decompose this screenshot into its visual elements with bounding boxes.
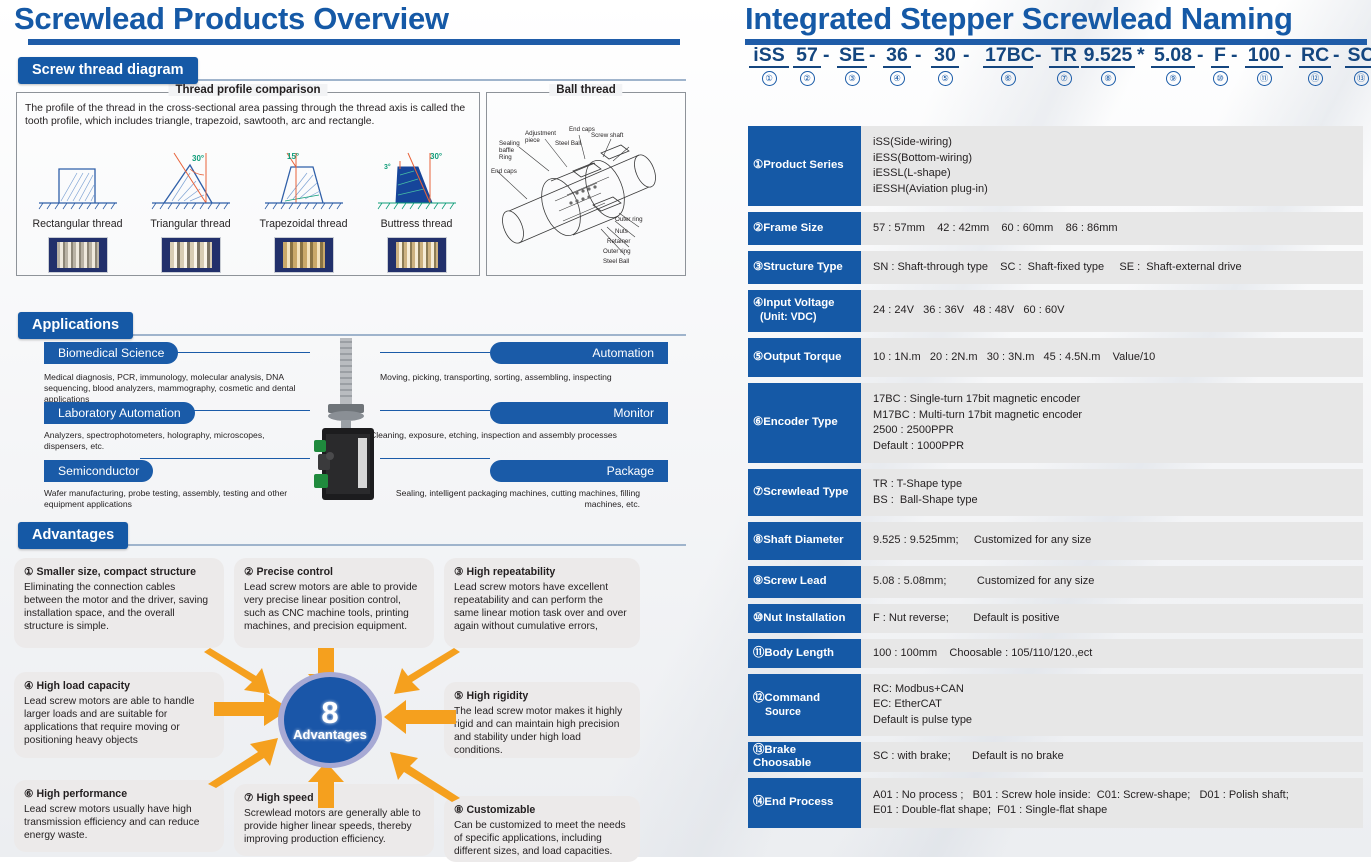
- advantage-card-3: ③ High repeatability Lead screw motors h…: [444, 558, 640, 648]
- table-row: ⑧Shaft Diameter 9.525 : 9.525mm; Customi…: [748, 522, 1363, 560]
- trapezoidal-thread-icon: 15°: [247, 139, 360, 217]
- table-row-key: ⑤Output Torque: [748, 338, 861, 377]
- thread-photo-buttress: [387, 237, 447, 273]
- table-row-key: ③Structure Type: [748, 251, 861, 284]
- code-segment-11: 100⑪: [1245, 44, 1283, 86]
- thread-diagram-area: Thread profile comparison The profile of…: [16, 92, 684, 274]
- ball-label: piece: [525, 137, 540, 144]
- code-segment-9: 5.08⑨: [1151, 44, 1195, 86]
- section-header-applications: Applications: [0, 312, 700, 338]
- ball-label: Sealing: [499, 140, 520, 147]
- code-separator: *: [1137, 44, 1145, 66]
- arrow-icon-from-card5: [384, 700, 456, 734]
- ball-label: Outer ring: [615, 216, 643, 223]
- arrow-icon-from-card1: [200, 648, 290, 698]
- thread-profile-label: Buttress thread: [360, 218, 473, 230]
- code-segment-10: F⑩: [1211, 44, 1229, 86]
- badge-word: Advantages: [293, 727, 367, 742]
- advantage-title: ④ High load capacity: [24, 680, 214, 692]
- naming-code-line: iSS① 57② - SE③ - 36④ - 30⑤ - 17BC⑥ - TR⑦…: [749, 44, 1369, 88]
- advantage-title: ⑤ High rigidity: [454, 690, 630, 702]
- thread-profile-item: 30° Triangular thread: [134, 139, 247, 273]
- code-separator: -: [823, 44, 830, 66]
- code-segment-1: iSS①: [749, 44, 789, 86]
- ball-label: Steel Ball: [603, 258, 629, 265]
- advantage-card-8: ⑧ Customizable Can be customized to meet…: [444, 796, 640, 862]
- advantage-card-4: ④ High load capacity Lead screw motors a…: [14, 672, 224, 758]
- advantage-desc: Lead screw motors are able to provide ve…: [244, 581, 424, 633]
- table-row-value: iSS(Side-wiring) iESS(Bottom-wiring) iES…: [861, 126, 1363, 206]
- code-separator: -: [1197, 44, 1204, 66]
- thread-profile-label: Triangular thread: [134, 218, 247, 230]
- applications-area: Biomedical Science Medical diagnosis, PC…: [0, 330, 700, 510]
- app-connector: [380, 458, 490, 459]
- code-separator: -: [1035, 44, 1042, 66]
- table-row-key: ⑧Shaft Diameter: [748, 522, 861, 560]
- advantage-title: ⑥ High performance: [24, 788, 214, 800]
- thread-profile-label: Rectangular thread: [21, 218, 134, 230]
- application-pill-laboratory[interactable]: Laboratory Automation: [44, 402, 195, 424]
- table-row-key: ⑭End Process: [748, 778, 861, 828]
- angle-label: 15°: [287, 152, 299, 161]
- table-row-key: ⑩Nut Installation: [748, 604, 861, 633]
- application-pill-package[interactable]: Package: [490, 460, 668, 482]
- table-row: ⑥Encoder Type 17BC : Single-turn 17bit m…: [748, 383, 1363, 463]
- table-row: ④Input Voltage (Unit: VDC) 24 : 24V 36 :…: [748, 290, 1363, 332]
- code-separator: -: [1231, 44, 1238, 66]
- application-desc-semiconductor: Wafer manufacturing, probe testing, asse…: [44, 488, 306, 510]
- ball-label: Ring: [499, 154, 512, 161]
- table-row-key: ⑪Body Length: [748, 639, 861, 668]
- application-desc-package: Sealing, intelligent packaging machines,…: [380, 488, 640, 510]
- thread-profile-item: Rectangular thread: [21, 139, 134, 273]
- table-row-value: 24 : 24V 36 : 36V 48 : 48V 60 : 60V: [861, 290, 1363, 332]
- table-row-value: A01 : No process ; B01 : Screw hole insi…: [861, 778, 1363, 828]
- thread-photo-triangular: [161, 237, 221, 273]
- arrow-icon-from-card8: [376, 750, 462, 802]
- thread-profile-box: Thread profile comparison The profile of…: [16, 92, 480, 276]
- code-segment-12: RC⑫: [1299, 44, 1331, 86]
- advantage-title: ① Smaller size, compact structure: [24, 566, 214, 578]
- code-segment-5: 30⑤: [931, 44, 959, 86]
- page-title-left: Screwlead Products Overview: [0, 0, 700, 36]
- stepper-motor-product-image: [300, 334, 396, 506]
- thread-profile-label: Trapezoidal thread: [247, 218, 360, 230]
- ball-screw-assembly-illustration: Sealing baffle Ring Adjustment piece End…: [489, 109, 683, 271]
- advantage-desc: Lead screw motors are able to handle lar…: [24, 695, 214, 747]
- table-row-value: 100 : 100mm Choosable : 105/110/120.,ect: [861, 639, 1363, 668]
- table-row: ⑫Command Source RC: Modbus+CAN EC: Ether…: [748, 674, 1363, 736]
- ball-thread-legend: Ball thread: [549, 84, 622, 96]
- badge-core: 8 Advantages: [284, 677, 376, 763]
- app-connector: [140, 458, 310, 459]
- section-badge-applications: Applications: [18, 312, 133, 339]
- title-underline-left: [28, 39, 680, 45]
- ball-label: Screw shaft: [591, 132, 624, 139]
- application-pill-automation[interactable]: Automation: [490, 342, 668, 364]
- section-header-thread: Screw thread diagram: [0, 57, 700, 83]
- table-row: ⑤Output Torque 10 : 1N.m 20 : 2N.m 30 : …: [748, 338, 1363, 377]
- section-badge-thread: Screw thread diagram: [18, 57, 198, 84]
- advantage-card-2: ② Precise control Lead screw motors are …: [234, 558, 434, 648]
- arrow-icon-from-card3: [372, 648, 464, 698]
- table-row: ⑩Nut Installation F : Nut reverse; Defau…: [748, 604, 1363, 633]
- code-segment-13: SC⑬: [1345, 44, 1371, 86]
- table-row-value: 5.08 : 5.08mm; Customized for any size: [861, 566, 1363, 598]
- arrow-icon-from-card7: [306, 762, 346, 808]
- table-row: ⑦Screwlead Type TR : T-Shape type BS : B…: [748, 469, 1363, 516]
- table-row-value: 9.525 : 9.525mm; Customized for any size: [861, 522, 1363, 560]
- table-row: ③Structure Type SN : Shaft-through type …: [748, 251, 1363, 284]
- badge-number: 8: [321, 698, 338, 727]
- code-segment-6: 17BC⑥: [983, 44, 1033, 86]
- table-row-key: ⑦Screwlead Type: [748, 469, 861, 516]
- table-row-value: SN : Shaft-through type SC : Shaft-fixed…: [861, 251, 1363, 284]
- table-row-key: ⑬Brake Choosable: [748, 742, 861, 772]
- ball-label: baffle: [499, 147, 515, 154]
- application-pill-monitor[interactable]: Monitor: [490, 402, 668, 424]
- product-overview-page: Screwlead Products Overview Screw thread…: [0, 0, 1371, 857]
- table-row-value: 17BC : Single-turn 17bit magnetic encode…: [861, 383, 1363, 463]
- table-row: ①Product Series iSS(Side-wiring) iESS(Bo…: [748, 126, 1363, 206]
- table-row: ⑨Screw Lead 5.08 : 5.08mm; Customized fo…: [748, 566, 1363, 598]
- left-panel: Screwlead Products Overview Screw thread…: [0, 0, 700, 857]
- ball-label: Nuts: [615, 228, 628, 235]
- table-row-key: ①Product Series: [748, 126, 861, 206]
- table-row-value: F : Nut reverse; Default is positive: [861, 604, 1363, 633]
- thread-photo-trapezoidal: [274, 237, 334, 273]
- angle-label: 30°: [430, 152, 442, 161]
- thread-profile-item: 15° Trapezoidal thread: [247, 139, 360, 273]
- table-row-value: RC: Modbus+CAN EC: EtherCAT Default is p…: [861, 674, 1363, 736]
- thread-photo-rectangular: [48, 237, 108, 273]
- application-desc-laboratory: Analyzers, spectrophotometers, holograph…: [44, 430, 306, 452]
- advantage-title: ⑧ Customizable: [454, 804, 630, 816]
- advantage-desc: The lead screw motor makes it highly rig…: [454, 705, 630, 757]
- table-row-key: ④Input Voltage (Unit: VDC): [748, 290, 861, 332]
- advantage-desc: Screwlead motors are generally able to p…: [244, 807, 424, 846]
- table-row-value: SC : with brake; Default is no brake: [861, 742, 1363, 772]
- table-row: ⑬Brake Choosable SC : with brake; Defaul…: [748, 742, 1363, 772]
- buttress-thread-icon: 30° 3°: [360, 139, 473, 217]
- app-connector: [380, 410, 490, 411]
- angle-label: 30°: [192, 154, 204, 163]
- naming-spec-table: ①Product Series iSS(Side-wiring) iESS(Bo…: [748, 126, 1363, 834]
- ball-label: Adjustment: [525, 130, 556, 137]
- code-segment-3: SE③: [837, 44, 867, 86]
- table-row-key: ⑨Screw Lead: [748, 566, 861, 598]
- table-row-value: 10 : 1N.m 20 : 2N.m 30 : 3N.m 45 : 4.5N.…: [861, 338, 1363, 377]
- app-connector: [380, 352, 490, 353]
- application-desc-biomedical: Medical diagnosis, PCR, immunology, mole…: [44, 372, 306, 405]
- advantage-title: ③ High repeatability: [454, 566, 630, 578]
- application-pill-semiconductor[interactable]: Semiconductor: [44, 460, 153, 482]
- table-row-value: TR : T-Shape type BS : Ball-Shape type: [861, 469, 1363, 516]
- section-header-advantages: Advantages: [0, 522, 700, 548]
- advantages-count-badge: 8 Advantages: [278, 672, 382, 768]
- ball-label: Retainer: [607, 238, 630, 245]
- triangular-thread-icon: 30°: [134, 139, 247, 217]
- code-separator: -: [963, 44, 970, 66]
- code-separator: -: [869, 44, 876, 66]
- ball-label: Steel Ball: [555, 140, 581, 147]
- advantage-desc: Lead screw motors have excellent repeata…: [454, 581, 630, 633]
- table-row: ⑭End Process A01 : No process ; B01 : Sc…: [748, 778, 1363, 828]
- advantage-desc: Lead screw motors usually have high tran…: [24, 803, 214, 842]
- advantage-card-6: ⑥ High performance Lead screw motors usu…: [14, 780, 224, 852]
- table-row-key: ②Frame Size: [748, 212, 861, 245]
- advantage-desc: Eliminating the connection cables betwee…: [24, 581, 214, 633]
- ball-label: End caps: [491, 168, 517, 175]
- ball-label: Outer ring: [603, 248, 631, 255]
- table-row: ②Frame Size 57 : 57mm 42 : 42mm 60 : 60m…: [748, 212, 1363, 245]
- thread-profile-list: Rectangular thread: [21, 139, 475, 273]
- code-segment-8: 9.525⑧: [1081, 44, 1135, 86]
- table-row-key: ⑥Encoder Type: [748, 383, 861, 463]
- code-segment-2: 57②: [793, 44, 821, 86]
- table-row-value: 57 : 57mm 42 : 42mm 60 : 60mm 86 : 86mm: [861, 212, 1363, 245]
- thread-profile-item: 30° 3° Buttress thread: [360, 139, 473, 273]
- code-separator: -: [915, 44, 922, 66]
- advantage-card-1: ① Smaller size, compact structure Elimin…: [14, 558, 224, 648]
- advantage-card-5: ⑤ High rigidity The lead screw motor mak…: [444, 682, 640, 758]
- thread-profile-legend: Thread profile comparison: [168, 84, 327, 96]
- application-pill-biomedical[interactable]: Biomedical Science: [44, 342, 178, 364]
- ball-thread-box: Ball thread: [486, 92, 686, 276]
- table-row-key: ⑫Command Source: [748, 674, 861, 736]
- rectangular-thread-icon: [21, 139, 134, 217]
- thread-profile-intro: The profile of the thread in the cross-s…: [25, 103, 469, 128]
- angle-label-small: 3°: [384, 163, 391, 171]
- code-separator: -: [1333, 44, 1340, 66]
- code-segment-7: TR⑦: [1049, 44, 1079, 86]
- table-row: ⑪Body Length 100 : 100mm Choosable : 105…: [748, 639, 1363, 668]
- page-title-right: Integrated Stepper Screwlead Naming: [735, 0, 1371, 36]
- section-badge-advantages: Advantages: [18, 522, 128, 549]
- advantage-desc: Can be customized to meet the needs of s…: [454, 819, 630, 858]
- advantage-title: ② Precise control: [244, 566, 424, 578]
- code-separator: -: [1285, 44, 1292, 66]
- application-desc-monitor: Cleaning, exposure, etching, inspection …: [370, 430, 640, 441]
- code-segment-4: 36④: [883, 44, 911, 86]
- application-desc-automation: Moving, picking, transporting, sorting, …: [380, 372, 640, 383]
